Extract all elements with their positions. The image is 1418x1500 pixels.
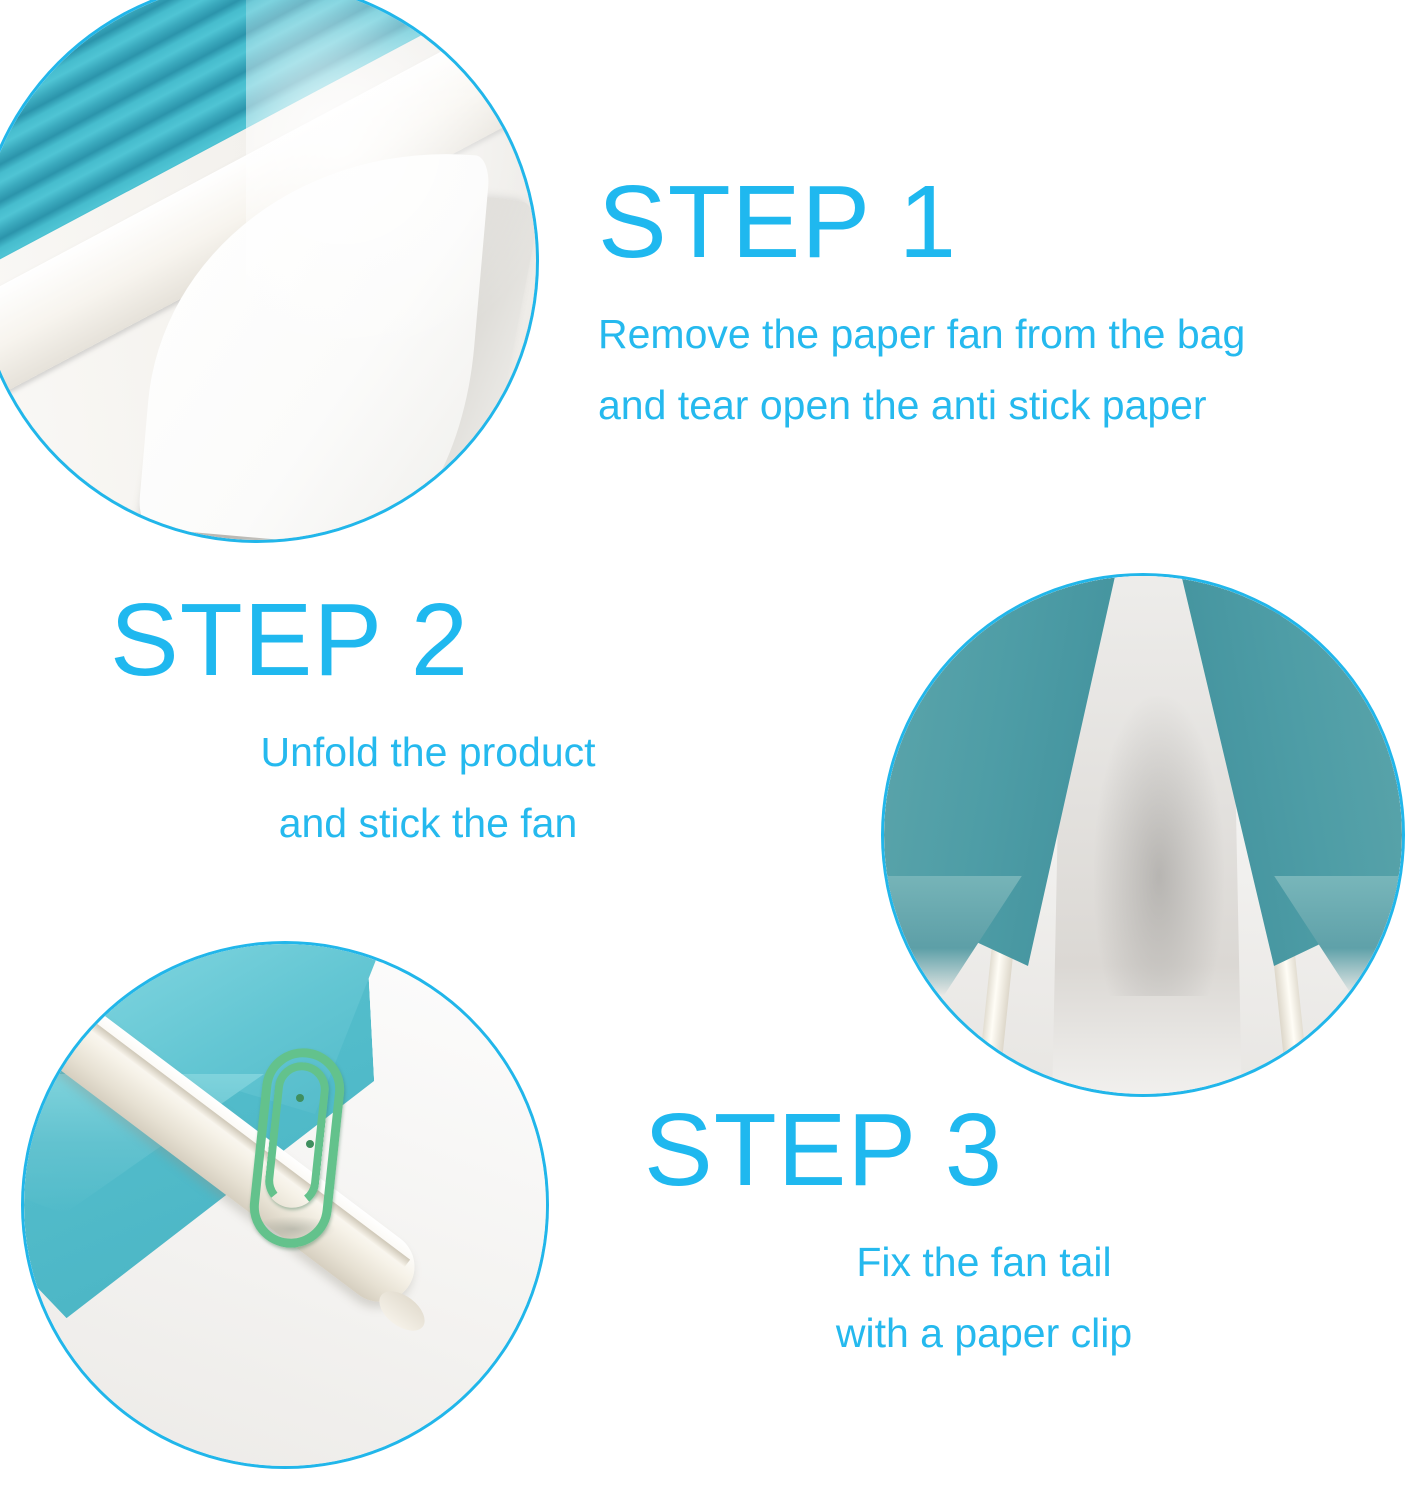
step-1-line-2: and tear open the anti stick paper: [598, 370, 1245, 441]
center-panel-shadow: [1094, 696, 1224, 996]
step-2-description: Unfold the product and stick the fan: [98, 717, 758, 858]
photo-inner-step2: [884, 576, 1402, 1094]
step-3-line-1: Fix the fan tail: [634, 1227, 1334, 1298]
paper-clip-tip-lower: [306, 1140, 314, 1148]
fan-tail-paper-clip-photo: [24, 944, 546, 1466]
step-3-line-2: with a paper clip: [634, 1298, 1334, 1369]
step-1-description: Remove the paper fan from the bag and te…: [598, 299, 1245, 440]
step-2-text-block: STEP 2 Unfold the product and stick the …: [98, 588, 758, 858]
step-1-title: STEP 1: [598, 170, 1245, 273]
unfolded-fan-adhesive-strip-photo: [884, 576, 1402, 1094]
instruction-sheet: STEP 1 Remove the paper fan from the bag…: [0, 0, 1418, 1500]
step-1-line-1: Remove the paper fan from the bag: [598, 299, 1245, 370]
step-3-description: Fix the fan tail with a paper clip: [634, 1227, 1334, 1368]
paper-clip-tip-upper: [296, 1094, 304, 1102]
step-2-title: STEP 2: [110, 588, 758, 691]
photo-glare: [246, 0, 536, 372]
pleated-fan-peeling-liner-photo: [0, 0, 536, 540]
photo-inner-step3: [24, 944, 546, 1466]
step-1-text-block: STEP 1 Remove the paper fan from the bag…: [598, 170, 1245, 440]
step-2-line-1: Unfold the product: [98, 717, 758, 788]
photo-inner-step1: [0, 0, 536, 540]
step-2-line-2: and stick the fan: [98, 788, 758, 859]
step-3-text-block: STEP 3 Fix the fan tail with a paper cli…: [634, 1098, 1334, 1368]
step-3-title: STEP 3: [644, 1098, 1334, 1201]
